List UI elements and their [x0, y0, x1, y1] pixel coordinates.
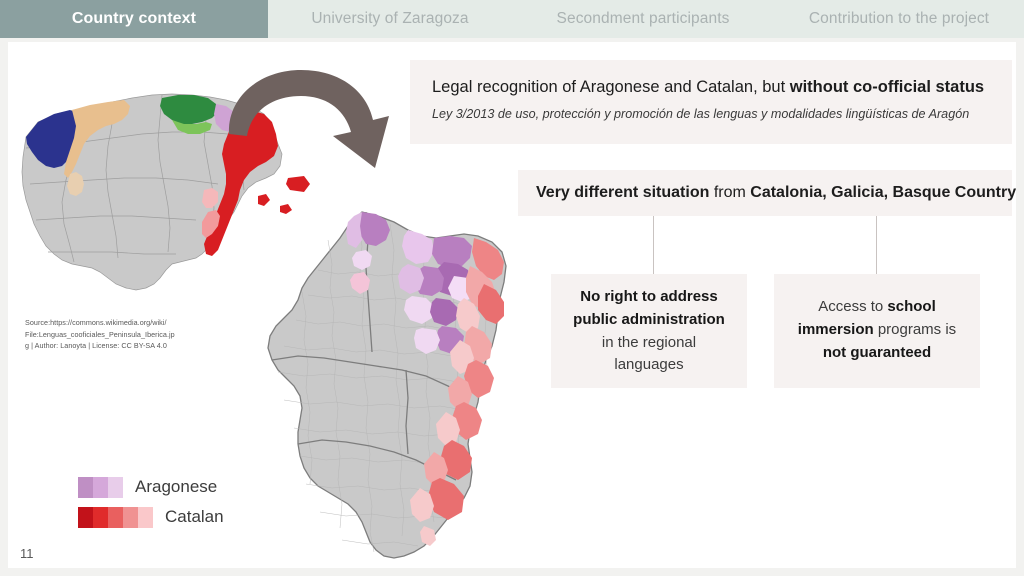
tab-country-context[interactable]: Country context	[0, 0, 268, 38]
legal-reference-subtitle: Ley 3/2013 de uso, protección y promoció…	[432, 107, 990, 121]
slide-canvas: Country context University of Zaragoza S…	[0, 0, 1024, 576]
catalan-swatch	[138, 507, 153, 528]
catalan-swatch	[93, 507, 108, 528]
aragon-region-map	[258, 200, 538, 568]
aragonese-swatches	[78, 477, 123, 498]
legend-label-catalan: Catalan	[165, 507, 224, 527]
tab-secondment-participants[interactable]: Secondment participants	[512, 0, 774, 38]
legend-row-catalan: Catalan	[78, 504, 224, 530]
tab-contribution-to-the-project[interactable]: Contribution to the project	[774, 0, 1024, 38]
curved-arrow-icon	[213, 60, 413, 180]
connector-line-left	[653, 216, 654, 274]
public-administration-callout: No right to address public administratio…	[551, 274, 747, 388]
public-administration-text: No right to address public administratio…	[559, 286, 739, 377]
school-bold-3: not guaranteed	[823, 344, 931, 361]
source-line-1: Source:https://commons.wikimedia.org/wik…	[25, 317, 210, 329]
aragonese-swatch	[108, 477, 123, 498]
slide-page-number: 11	[20, 546, 34, 561]
admin-regular-line-3: in the regional	[602, 334, 696, 351]
admin-bold-line-1: No right to address	[580, 288, 718, 305]
slide-content-area: Source:https://commons.wikimedia.org/wik…	[8, 42, 1016, 568]
legal-headline-regular: Legal recognition of Aragonese and Catal…	[432, 78, 790, 96]
tab-label: Contribution to the project	[809, 10, 989, 28]
school-bold-2: immersion	[798, 321, 874, 338]
aragonese-swatch	[93, 477, 108, 498]
admin-regular-line-4: languages	[614, 356, 683, 373]
nav-tab-bar: Country context University of Zaragoza S…	[0, 0, 1024, 38]
legend-row-aragonese: Aragonese	[78, 474, 224, 500]
different-situation-text: Very different situation from Catalonia,…	[536, 184, 1016, 202]
connector-line-right	[876, 216, 877, 274]
legend-label-aragonese: Aragonese	[135, 477, 217, 497]
source-line-3: g | Author: Lanoyta | License: CC BY-SA …	[25, 340, 210, 352]
tab-label: Secondment participants	[557, 10, 730, 28]
school-regular-1: Access to	[818, 298, 887, 315]
aragonese-swatch	[78, 477, 93, 498]
school-bold-1: school	[887, 298, 935, 315]
school-immersion-text: Access to school immersion programs is n…	[782, 296, 972, 364]
different-situation-box: Very different situation from Catalonia,…	[518, 170, 1012, 216]
different-situation-bold-2: Catalonia, Galicia, Basque Country…	[750, 184, 1016, 201]
tab-university-of-zaragoza[interactable]: University of Zaragoza	[268, 0, 512, 38]
catalan-swatches	[78, 507, 153, 528]
school-immersion-callout: Access to school immersion programs is n…	[774, 274, 980, 388]
admin-bold-line-2: public administration	[573, 311, 725, 328]
tab-label: University of Zaragoza	[311, 10, 468, 28]
catalan-swatch	[108, 507, 123, 528]
legal-recognition-headline: Legal recognition of Aragonese and Catal…	[432, 76, 990, 98]
map-legend: Aragonese Catalan	[78, 474, 224, 534]
legal-recognition-box: Legal recognition of Aragonese and Catal…	[410, 60, 1012, 144]
source-line-2: File:Lenguas_cooficiales_Peninsula_Iberi…	[25, 329, 210, 341]
different-situation-regular: from	[709, 184, 750, 201]
source-attribution: Source:https://commons.wikimedia.org/wik…	[25, 317, 210, 352]
school-regular-2: programs is	[874, 321, 957, 338]
catalan-swatch	[78, 507, 93, 528]
different-situation-bold-1: Very different situation	[536, 184, 709, 201]
catalan-swatch	[123, 507, 138, 528]
tab-label: Country context	[72, 10, 196, 28]
legal-headline-bold: without co-official status	[790, 78, 984, 96]
